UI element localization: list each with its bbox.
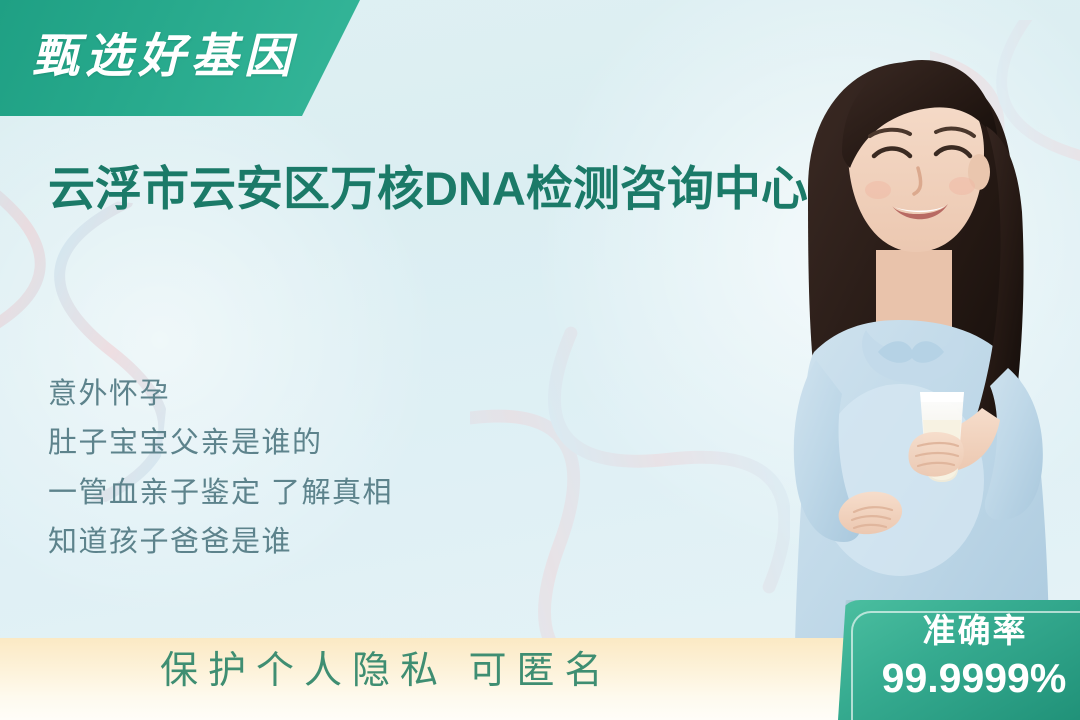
promo-banner: 甄选好基因 云浮市云安区万核DNA检测咨询中心 意外怀孕 肚子宝宝父亲是谁的 一…	[0, 0, 1080, 720]
accuracy-badge-label: 准确率	[838, 614, 1080, 647]
accuracy-badge: 准确率 99.9999%	[838, 600, 1080, 720]
benefit-line: 知道孩子爸爸是谁	[48, 518, 608, 567]
benefit-list: 意外怀孕 肚子宝宝父亲是谁的 一管血亲子鉴定 了解真相 知道孩子爸爸是谁	[48, 370, 608, 567]
brand-logo-text: 甄选好基因	[32, 33, 297, 80]
page-title: 云浮市云安区万核DNA检测咨询中心	[48, 158, 838, 219]
benefit-line: 肚子宝宝父亲是谁的	[48, 419, 608, 468]
benefit-line: 一管血亲子鉴定 了解真相	[48, 469, 608, 518]
brand-logo-ribbon: 甄选好基因	[0, 0, 370, 116]
accuracy-badge-value: 99.9999%	[838, 658, 1080, 699]
privacy-band-text: 保护个人隐私 可匿名	[160, 652, 613, 690]
benefit-line: 意外怀孕	[48, 370, 608, 419]
